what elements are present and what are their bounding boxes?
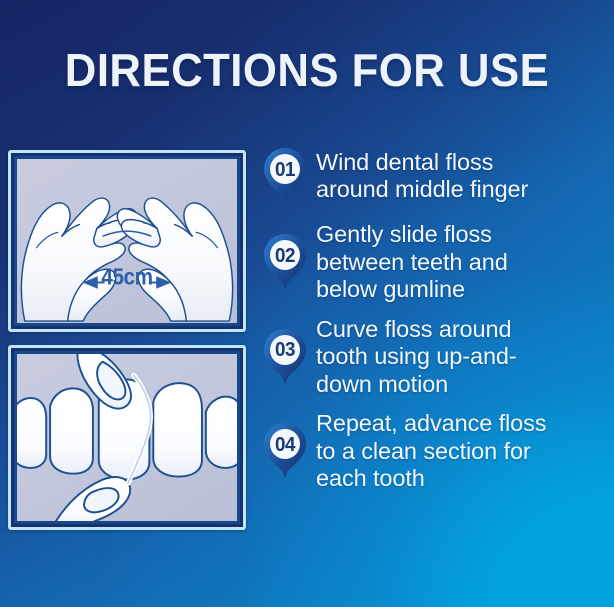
- step-line: around middle finger: [316, 176, 528, 204]
- step-badge-04: 04: [262, 422, 308, 480]
- step-line: Gently slide floss: [316, 221, 508, 249]
- step-number: 04: [263, 422, 306, 468]
- step-line: Curve floss around: [316, 316, 517, 344]
- step-item-01: 01 Wind dental floss around middle finge…: [262, 143, 614, 209]
- step-badge-01: 01: [262, 147, 308, 205]
- step-text-03: Curve floss around tooth using up-and- d…: [316, 316, 517, 399]
- step-line: each tooth: [316, 465, 546, 493]
- step-item-02: 02 Gently slide floss between teeth and …: [262, 221, 614, 304]
- step-number: 01: [263, 147, 306, 193]
- page-title: DIRECTIONS FOR USE: [15, 44, 598, 96]
- step-line: down motion: [316, 371, 517, 399]
- lower-finger: [52, 477, 130, 521]
- directions-for-use-infographic: DIRECTIONS FOR USE: [0, 0, 614, 607]
- step-item-03: 03 Curve floss around tooth using up-and…: [262, 316, 614, 399]
- step-number: 02: [263, 233, 306, 279]
- step-line: tooth using up-and-: [316, 343, 517, 371]
- step-line: between teeth and: [316, 249, 508, 277]
- illustration-panel-teeth-floss: [8, 345, 246, 530]
- illustration-frame-2: [14, 351, 240, 524]
- step-item-04: 04 Repeat, advance floss to a clean sect…: [262, 410, 614, 493]
- step-line: Wind dental floss: [316, 149, 528, 177]
- illustration-panel-hands-floss: 45cm: [8, 150, 246, 332]
- hands-holding-floss-illustration: [17, 159, 237, 323]
- step-line: to a clean section for: [316, 438, 546, 466]
- step-badge-03: 03: [262, 328, 308, 386]
- step-number: 03: [263, 328, 306, 374]
- step-text-04: Repeat, advance floss to a clean section…: [316, 410, 546, 493]
- steps-list: 01 Wind dental floss around middle finge…: [262, 143, 614, 505]
- step-text-01: Wind dental floss around middle finger: [316, 149, 528, 204]
- step-line: Repeat, advance floss: [316, 410, 546, 438]
- illustration-frame-1: 45cm: [14, 156, 240, 326]
- step-badge-02: 02: [262, 233, 308, 291]
- floss-between-teeth-illustration: [17, 354, 237, 521]
- step-text-02: Gently slide floss between teeth and bel…: [316, 221, 508, 304]
- step-line: below gumline: [316, 276, 508, 304]
- measurement-label: 45cm: [101, 264, 152, 291]
